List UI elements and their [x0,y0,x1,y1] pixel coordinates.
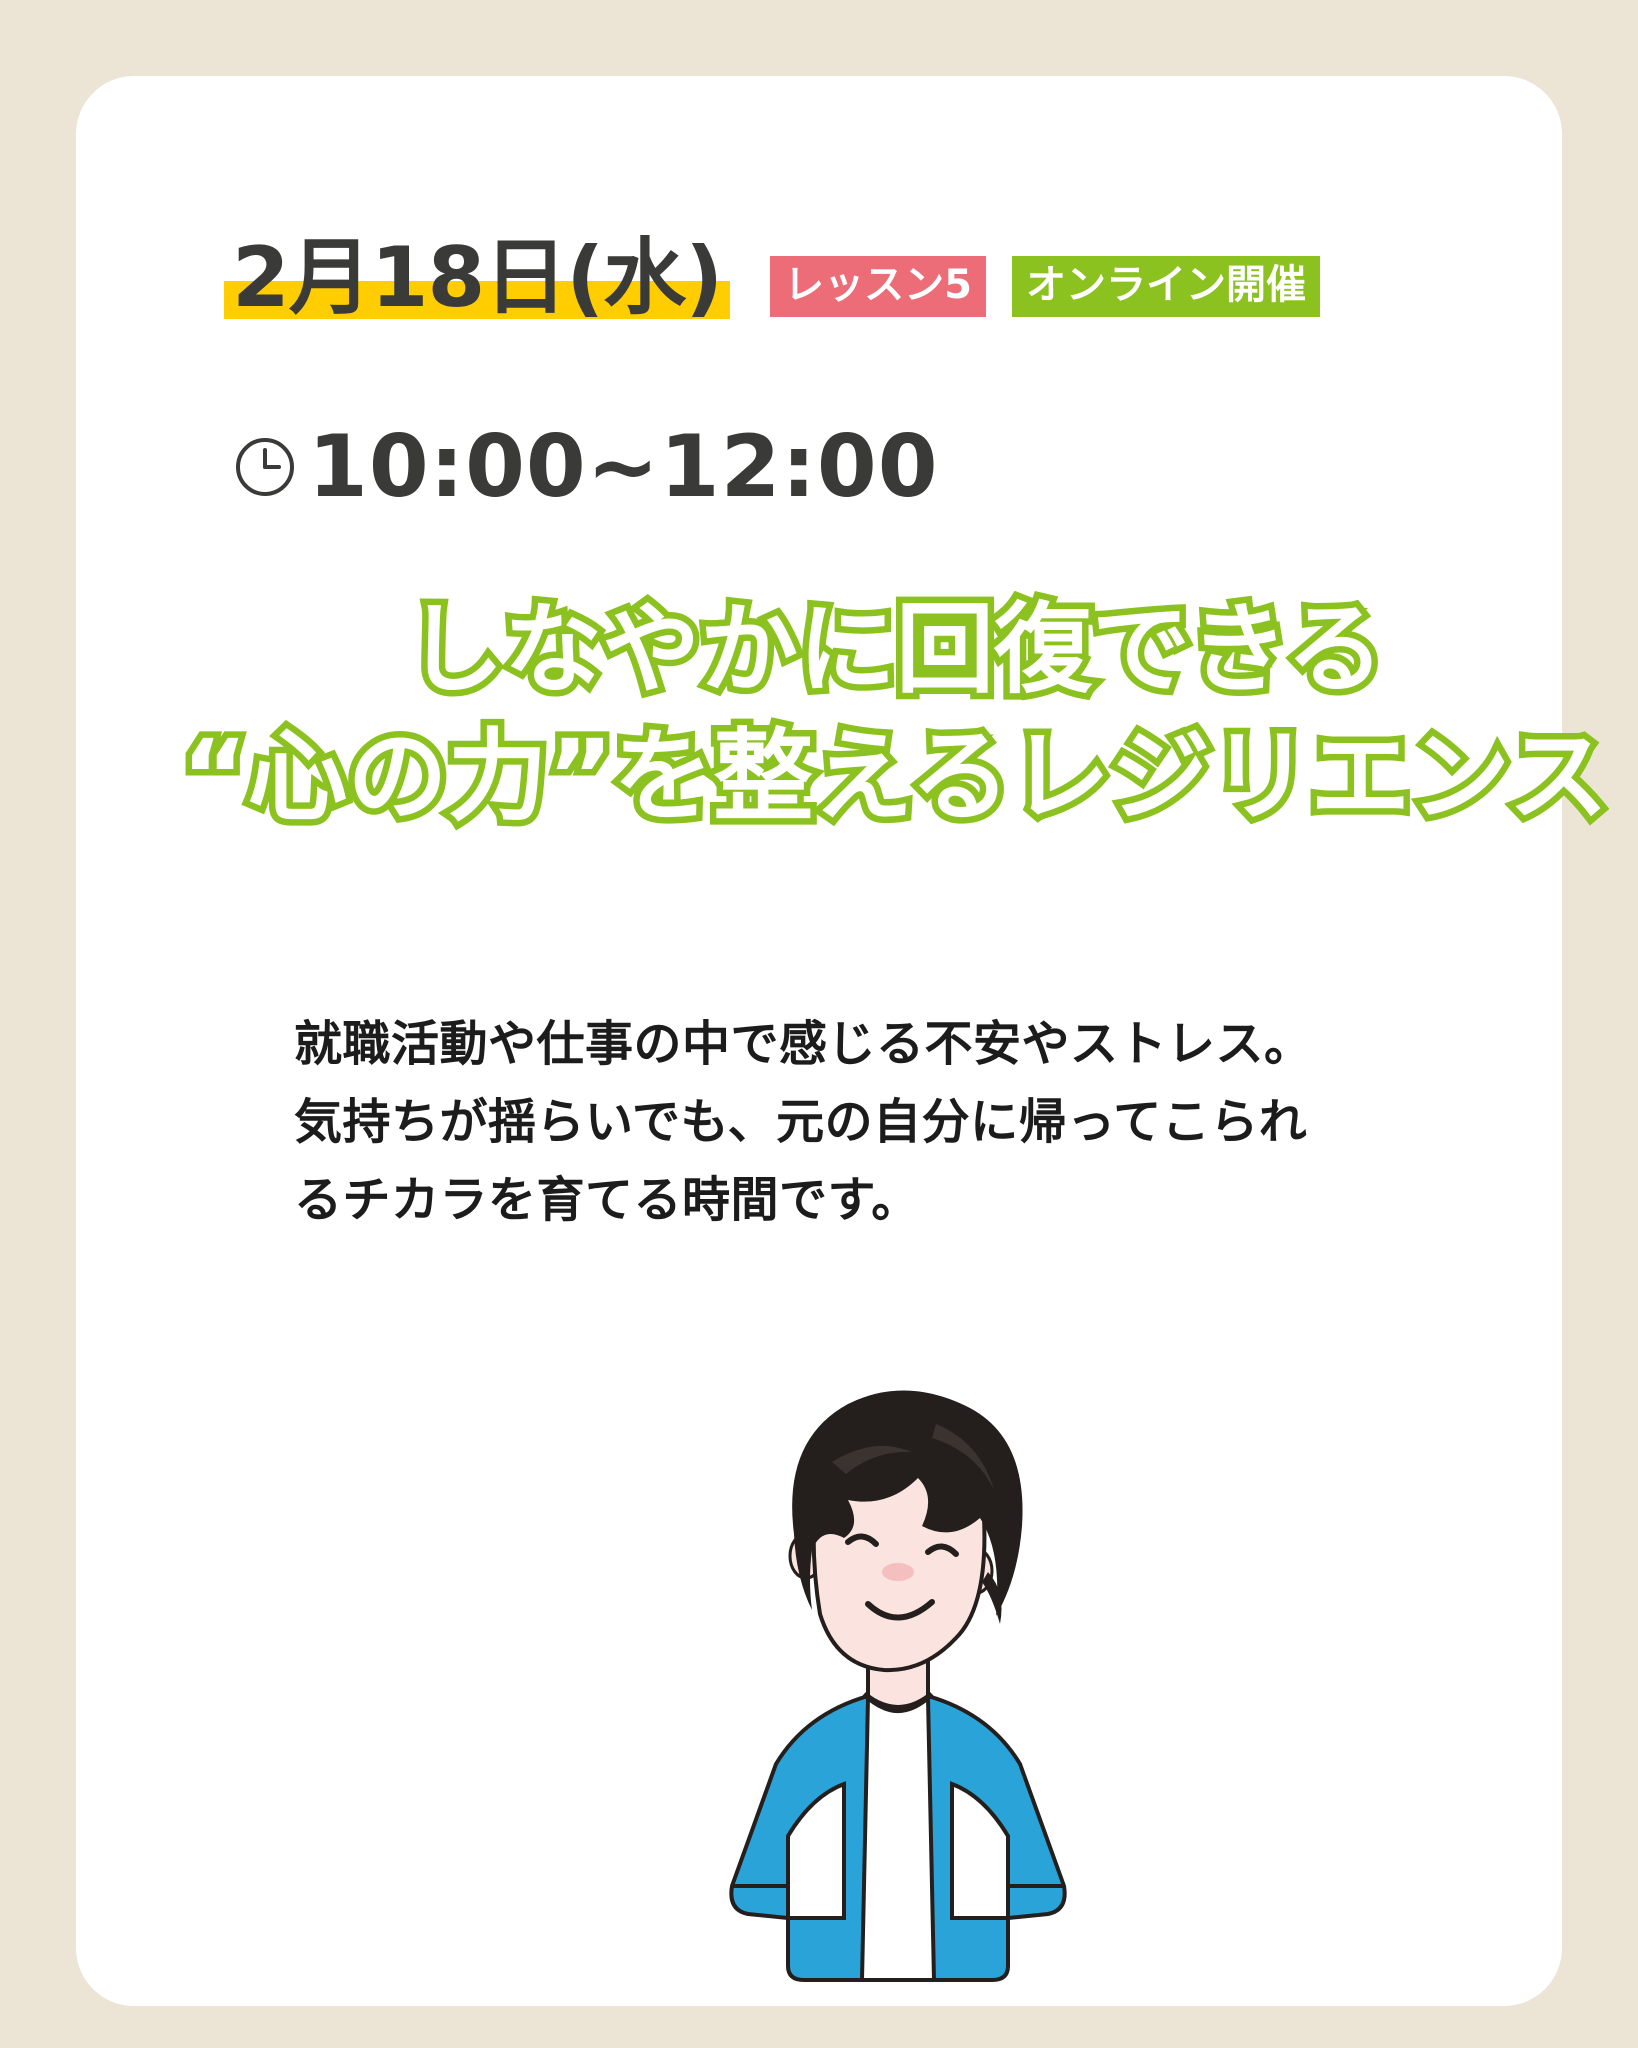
description: 就職活動や仕事の中で感じる不安やストレス。 気持ちが揺らいでも、元の自分に帰って… [294,1006,1474,1239]
page-title: しなやかに回復できる “心の力”を整えるレジリエンス [76,588,1638,841]
event-time: 10:00~12:00 [308,424,939,510]
description-line-2: 気持ちが揺らいでも、元の自分に帰ってこられ [294,1084,1474,1162]
title-line-2: “心の力”を整えるレジリエンス [76,713,1638,841]
clock-icon [234,436,296,498]
event-date: 2月18日(水) [232,229,722,326]
online-badge: オンライン開催 [1012,256,1320,317]
date-row: 2月18日(水) レッスン5 オンライン開催 [224,236,1320,323]
person-hands-on-hips-illustration [636,1366,1156,1996]
time-row: 10:00~12:00 [234,424,939,510]
description-line-3: るチカラを育てる時間です。 [294,1162,1474,1240]
content-card: 2月18日(水) レッスン5 オンライン開催 10:00~12:00 しなやかに… [76,76,1562,2006]
title-line-1: しなやかに回復できる [76,588,1638,713]
date-highlight-wrapper: 2月18日(水) [224,236,730,323]
lesson-badge: レッスン5 [770,256,986,317]
description-line-1: 就職活動や仕事の中で感じる不安やストレス。 [294,1006,1474,1084]
